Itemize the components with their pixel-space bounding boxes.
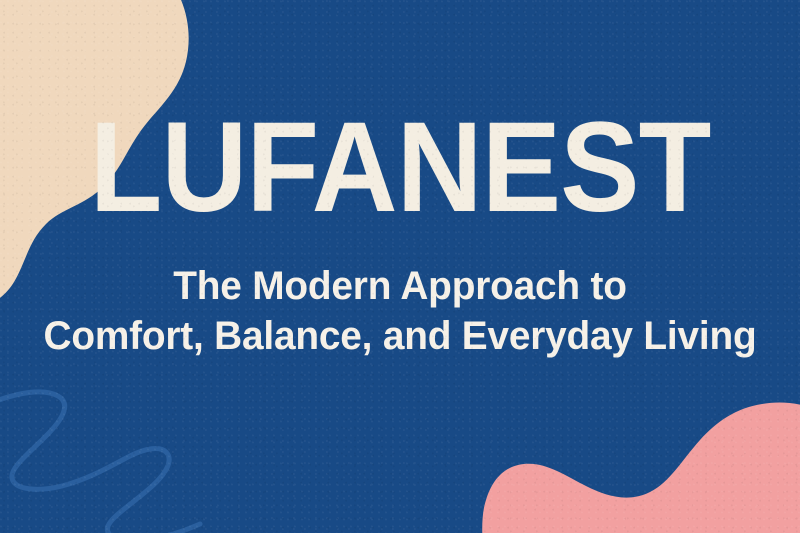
brand-poster: LUFANEST The Modern Approach to Comfort,… [0,0,800,533]
tagline-line-1: The Modern Approach to [12,261,788,311]
poster-content: LUFANEST The Modern Approach to Comfort,… [0,0,800,533]
brand-tagline: The Modern Approach to Comfort, Balance,… [12,261,788,361]
brand-title: LUFANEST [28,104,772,232]
tagline-line-2: Comfort, Balance, and Everyday Living [12,311,788,361]
